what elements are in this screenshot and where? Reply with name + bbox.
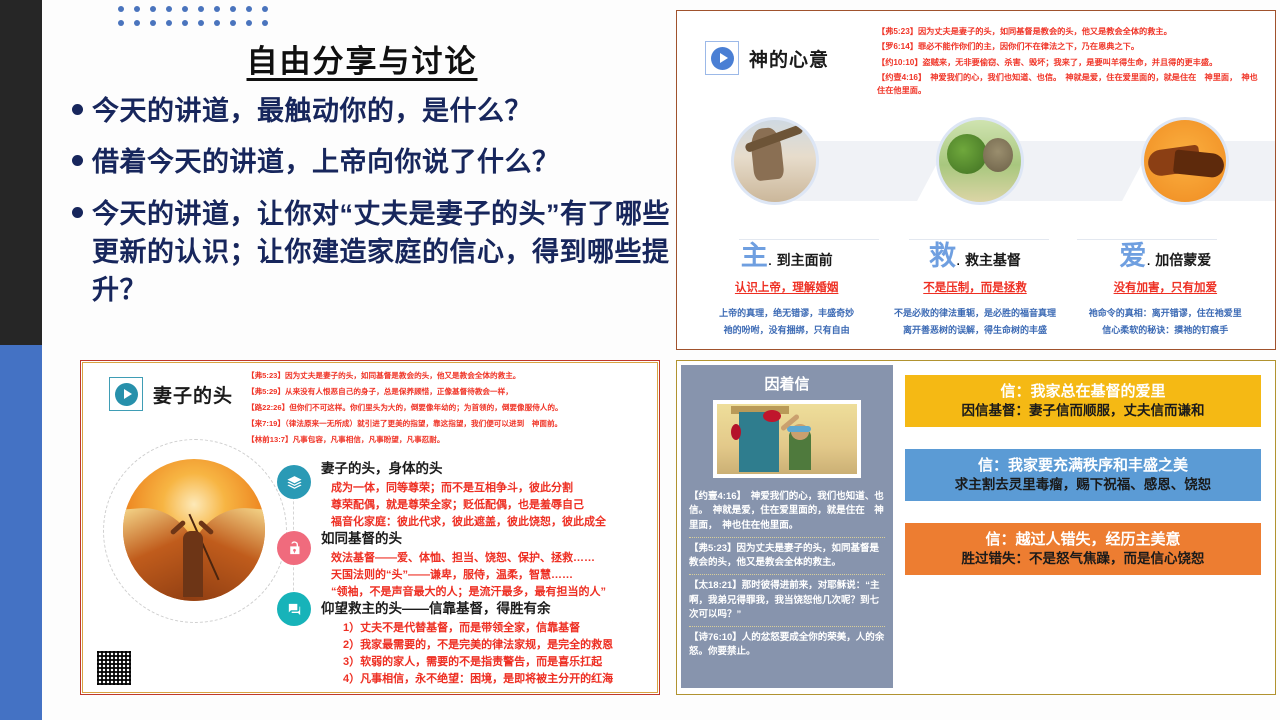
- verse-line: 【来7:19】（律法原来一无所成）就引进了更美的指望，靠这指望，我们便可以进到 …: [247, 417, 649, 431]
- list-item: 今天的讲道，最触动你的，是什么？: [72, 92, 684, 130]
- divine-tag-label: 神的心意: [749, 45, 829, 72]
- bullet-dot-icon: [72, 207, 83, 218]
- decor-dot: [246, 6, 252, 12]
- column-highlight: 认识上帝，理解婚姻: [699, 279, 875, 295]
- layers-icon: [277, 465, 311, 499]
- lock-icon: [277, 531, 311, 565]
- faith-verse-line: 【弗5:23】因为丈夫是妻子的头，如同基督是教会的头，他又是教会全体的救主。: [689, 537, 885, 575]
- play-icon-frame: [705, 41, 739, 75]
- column-note-2: 祂的吩咐，没有捆绑，只有自由: [699, 322, 875, 339]
- section-line: 1）丈夫不是代替基督，而是带领全家，信靠基督: [321, 620, 659, 637]
- wifehead-tag: 妻子的头: [109, 377, 233, 411]
- verse-line: 【弗5:23】因为丈夫是妻子的头，如同基督是教会的头，他又是教会全体的救主。: [877, 25, 1265, 38]
- faith-card-list: 信：我家总在基督的爱里 因信基督：妻子信而顺服，丈夫信而谦和 信：我家要充满秩序…: [905, 375, 1261, 597]
- verse-line: 【弗5:29】从来没有人恨恶自己的身子，总是保养顾惜，正像基督待教会一样，: [247, 385, 649, 399]
- clasped-hands-photo: [1141, 117, 1229, 205]
- decor-dot: [230, 20, 236, 26]
- section-title: 如同基督的头: [321, 527, 651, 547]
- section-line: 2）我家最需要的，不是完美的律法家规，是完全的救恩: [321, 637, 659, 654]
- divine-column-1: 主. 到主面前 认识上帝，理解婚姻 上帝的真理，绝无错谬，丰盛奇妙 祂的吩咐，没…: [699, 243, 875, 339]
- dot-row: [118, 20, 268, 26]
- section-title: 仰望救主的头——信靠基督，得胜有余: [321, 597, 659, 617]
- card-headline: 信：我家总在基督的爱里: [911, 381, 1255, 402]
- column-note-1: 不是必败的律法重轭，是必胜的福音真理: [882, 305, 1068, 322]
- left-edge-blue-bar: [0, 345, 42, 720]
- faith-title: 因着信: [689, 373, 885, 394]
- two-trees-photo: [936, 117, 1024, 205]
- circle-image-2: [936, 117, 1024, 205]
- faith-card-love: 信：我家总在基督的爱里 因信基督：妻子信而顺服，丈夫信而谦和: [905, 375, 1261, 427]
- divine-column-3: 爱. 加倍蒙爱 没有加害，只有加爱 祂命令的真相：离开错谬，住在祂爱里 信心柔软…: [1075, 243, 1255, 339]
- column-subtitle: 加倍蒙爱: [1155, 252, 1211, 268]
- column-highlight: 没有加害，只有加爱: [1075, 279, 1255, 295]
- decor-dot: [214, 20, 220, 26]
- verse-line: 【路22:26】但你们不可这样。你们里头为大的，倒要像年幼的；为首领的，倒要像服…: [247, 401, 649, 415]
- divine-column-2: 救. 救主基督 不是压制，而是拯救 不是必败的律法重轭，是必胜的福音真理 离开善…: [882, 243, 1068, 339]
- divine-verse-list: 【弗5:23】因为丈夫是妻子的头，如同基督是教会的头，他又是教会全体的救主。 【…: [877, 25, 1265, 99]
- verse-line: 【罗6:14】罪必不能作你们的主，因你们不在律法之下，乃在恩典之下。: [877, 40, 1265, 53]
- decor-dot: [134, 20, 140, 26]
- bullet-dot-icon: [72, 155, 83, 166]
- dot-row: [118, 6, 268, 12]
- slide-canvas: 自由分享与讨论 今天的讲道，最触动你的，是什么？ 借着今天的讲道，上帝向你说了什…: [0, 0, 1280, 720]
- dot-decoration: [118, 6, 268, 34]
- decor-dot: [150, 20, 156, 26]
- decor-dot: [262, 20, 268, 26]
- moses-parting-red-sea-illustration: [123, 459, 265, 601]
- verse-line: 【林前13:7】凡事包容，凡事相信，凡事盼望，凡事忍耐。: [247, 433, 649, 447]
- decor-dot: [262, 6, 268, 12]
- section-line: 4）凡事相信，永不绝望：困境，是即将被主分开的红海: [321, 671, 659, 688]
- verse-line: 【约10:10】盗贼来，无非要偷窃、杀害、毁坏；我来了，是要叫羊得生命，并且得的…: [877, 56, 1265, 69]
- divine-three-columns: 主. 到主面前 认识上帝，理解婚姻 上帝的真理，绝无错谬，丰盛奇妙 祂的吩咐，没…: [695, 243, 1259, 339]
- section-title: 妻子的头，身体的头: [321, 457, 651, 477]
- bullet-dot-icon: [72, 104, 83, 115]
- section-line: 3）软弱的家人，需要的不是指责警告，而是喜乐扛起: [321, 654, 659, 671]
- faith-verse-line: 【太18:21】那时彼得进前来，对耶稣说：“主啊，我弟兄得罪我，我当饶恕他几次呢…: [689, 574, 885, 626]
- play-icon: [711, 47, 734, 70]
- list-item: 借着今天的讲道，上帝向你说了什么？: [72, 143, 684, 181]
- wifehead-tag-label: 妻子的头: [153, 381, 233, 408]
- decor-dot: [166, 6, 172, 12]
- verse-line: 【约壹4:16】 神爱我们的心，我们也知道、也信。 神就是爱，住在爱里面的，就是…: [877, 71, 1265, 98]
- question-text: 今天的讲道，最触动你的，是什么？: [92, 92, 532, 130]
- play-icon-frame: [109, 377, 143, 411]
- left-edge-dark-bar: [0, 0, 42, 345]
- column-subtitle: 救主基督: [965, 252, 1021, 268]
- circle-image-1: [731, 117, 819, 205]
- column-highlight: 不是压制，而是拯救: [882, 279, 1068, 295]
- play-icon: [115, 383, 138, 406]
- wifehead-verse-list: 【弗5:23】因为丈夫是妻子的头，如同基督是教会的头，他又是教会全体的救主。 【…: [247, 369, 649, 450]
- question-text: 借着今天的讲道，上帝向你说了什么？: [92, 143, 560, 181]
- man-carrying-beam-photo: [731, 117, 819, 205]
- faith-verse-line: 【约壹4:16】 神爱我们的心，我们也知道、也信。 神就是爱，住在爱里面的，就是…: [689, 486, 885, 537]
- decor-dot: [166, 20, 172, 26]
- section-christ-head: 如同基督的头 效法基督——爱、体恤、担当、饶恕、保护、拯救…… 天国法则的“头”…: [321, 527, 651, 601]
- decor-dot: [118, 20, 124, 26]
- column-big-char: 主: [741, 241, 768, 271]
- card-subline: 胜过错失：不是怒气焦躁，而是信心饶恕: [911, 550, 1255, 569]
- column-note-2: 信心柔软的秘诀：摸祂的钉痕手: [1075, 322, 1255, 339]
- card-headline: 信：我家要充满秩序和丰盛之美: [911, 455, 1255, 476]
- faith-card-order: 信：我家要充满秩序和丰盛之美 求主割去灵里毒瘤，赐下祝福、感恩、饶恕: [905, 449, 1261, 501]
- list-item: 今天的讲道，让你对“丈夫是妻子的头”有了哪些更新的认识；让你建造家庭的信心，得到…: [72, 195, 684, 310]
- card-headline: 信：越过人错失，经历主美意: [911, 529, 1255, 550]
- divine-tag: 神的心意: [705, 41, 829, 75]
- panel-wife-head: 妻子的头 【弗5:23】因为丈夫是妻子的头，如同基督是教会的头，他又是教会全体的…: [80, 360, 660, 695]
- passover-doorpost-blood-illustration: [713, 400, 861, 478]
- panel-by-faith: 因着信 【约壹4:16】 神爱我们的心，我们也知道、也信。 神就是爱，住在爱里面…: [676, 360, 1276, 695]
- decor-dot: [198, 6, 204, 12]
- column-big-char: 救: [929, 241, 956, 271]
- section-line: 成为一体，同等尊荣；而不是互相争斗，彼此分割: [321, 480, 651, 497]
- discussion-question-list: 今天的讲道，最触动你的，是什么？ 借着今天的讲道，上帝向你说了什么？ 今天的讲道…: [72, 92, 684, 323]
- faith-verse-line: 【诗76:10】人的忿怒要成全你的荣美，人的余怒。你要禁止。: [689, 626, 885, 664]
- card-subline: 求主割去灵里毒瘤，赐下祝福、感恩、饶恕: [911, 476, 1255, 495]
- decor-dot: [182, 6, 188, 12]
- decor-dot: [182, 20, 188, 26]
- column-note-1: 上帝的真理，绝无错谬，丰盛奇妙: [699, 305, 875, 322]
- card-subline: 因信基督：妻子信而顺服，丈夫信而谦和: [911, 402, 1255, 421]
- decor-dot: [198, 20, 204, 26]
- decor-dot: [214, 6, 220, 12]
- panel-divine-intent: 神的心意 【弗5:23】因为丈夫是妻子的头，如同基督是教会的头，他又是教会全体的…: [676, 10, 1276, 350]
- decor-dot: [118, 6, 124, 12]
- section-line: 尊荣配偶，就是尊荣全家；贬低配偶，也是羞辱自己: [321, 497, 651, 514]
- section-line: 效法基督——爱、体恤、担当、饶恕、保护、拯救……: [321, 550, 651, 567]
- section-wife-head: 妻子的头，身体的头 成为一体，同等尊荣；而不是互相争斗，彼此分割 尊荣配偶，就是…: [321, 457, 651, 531]
- column-note-1: 祂命令的真相：离开错谬，住在祂爱里: [1075, 305, 1255, 322]
- question-text: 今天的讲道，让你对“丈夫是妻子的头”有了哪些更新的认识；让你建造家庭的信心，得到…: [92, 195, 684, 310]
- verse-line: 【弗5:23】因为丈夫是妻子的头，如同基督是教会的头，他又是教会全体的救主。: [247, 369, 649, 383]
- slide-title: 自由分享与讨论: [62, 36, 662, 81]
- circle-image-3: [1141, 117, 1229, 205]
- decor-dot: [150, 6, 156, 12]
- faith-card-forgive: 信：越过人错失，经历主美意 胜过错失：不是怒气焦躁，而是信心饶恕: [905, 523, 1261, 575]
- column-big-char: 爱: [1119, 241, 1146, 271]
- faith-left-column: 因着信 【约壹4:16】 神爱我们的心，我们也知道、也信。 神就是爱，住在爱里面…: [681, 365, 893, 688]
- section-look-to-savior: 仰望救主的头——信靠基督，得胜有余 1）丈夫不是代替基督，而是带领全家，信靠基督…: [321, 597, 659, 688]
- decor-dot: [134, 6, 140, 12]
- section-line: 天国法则的“头”——谦卑，服侍，温柔，智慧……: [321, 567, 651, 584]
- qr-code-icon[interactable]: [97, 651, 131, 685]
- column-note-2: 离开善恶树的误解，得生命树的丰盛: [882, 322, 1068, 339]
- decor-dot: [230, 6, 236, 12]
- divine-image-row: [731, 117, 1229, 205]
- decor-dot: [246, 20, 252, 26]
- column-subtitle: 到主面前: [777, 252, 833, 268]
- chat-icon: [277, 592, 311, 626]
